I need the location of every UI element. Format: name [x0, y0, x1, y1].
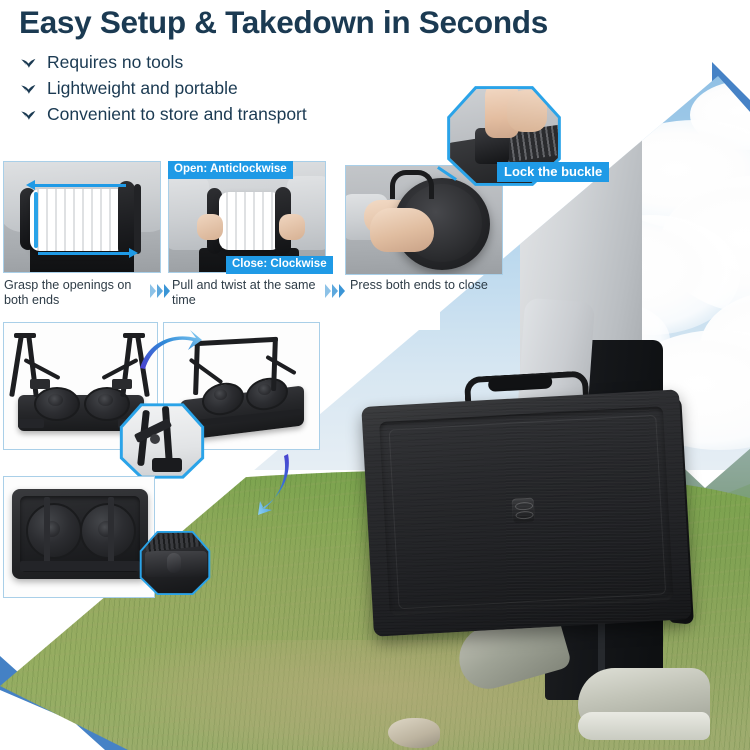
- infographic-canvas: Easy Setup & Takedown in Seconds Require…: [0, 0, 750, 750]
- support-rail: [44, 497, 50, 571]
- pressing-hand: [370, 208, 434, 252]
- frame-brace: [265, 355, 296, 375]
- fold-transition-arrow: [136, 328, 202, 372]
- hand-grip: [197, 214, 223, 240]
- badge-close-clockwise: Close: Clockwise: [226, 256, 333, 274]
- frame-leg: [9, 335, 24, 397]
- frame-crossbar: [14, 333, 36, 338]
- frame-brace: [101, 358, 138, 380]
- case-rim-highlight: [34, 192, 38, 248]
- chevron-right-icon: [339, 284, 345, 298]
- chevron-right-icon: [325, 284, 331, 298]
- fold-transition-arrow-2: [252, 452, 296, 516]
- seat-disc-center: [98, 394, 113, 406]
- latch-strip: [20, 561, 140, 571]
- step-arrow-separator: [325, 284, 345, 298]
- chevron-right-icon: [332, 284, 338, 298]
- list-item: Convenient to store and transport: [20, 104, 440, 127]
- case-end-cap: [118, 181, 135, 257]
- list-item-label: Lightweight and portable: [47, 78, 238, 99]
- step-caption-grasp: Grasp the openings on both ends: [4, 278, 154, 308]
- folded-table-roll: [30, 189, 127, 251]
- check-bird-icon: [20, 55, 39, 75]
- fold-panel-closed-underside: [3, 476, 155, 598]
- folded-table-roll: [219, 192, 281, 250]
- direction-arrow: [38, 252, 130, 255]
- case-shell: [361, 389, 691, 636]
- product-carry-case: [361, 389, 692, 656]
- foot-pad: [18, 419, 44, 428]
- direction-arrow: [34, 184, 126, 187]
- step-caption-press-close: Press both ends to close: [350, 278, 510, 293]
- step-arrow-separator: [150, 284, 170, 298]
- chevron-right-icon: [164, 284, 170, 298]
- feature-bullet-list: Requires no tools Lightweight and portab…: [20, 52, 440, 130]
- step-image-grasp: [3, 161, 161, 273]
- seat-disc-center: [214, 389, 227, 400]
- hand-grip: [279, 214, 305, 240]
- frame-crossbar: [194, 337, 278, 346]
- list-item: Requires no tools: [20, 52, 440, 75]
- latch-knob: [167, 553, 181, 573]
- check-bird-icon: [20, 107, 39, 127]
- ground-stone: [388, 718, 440, 748]
- badge-lock-the-buckle: Lock the buckle: [497, 162, 609, 182]
- seat-disc-center: [258, 384, 271, 395]
- list-item: Lightweight and portable: [20, 78, 440, 101]
- page-title: Easy Setup & Takedown in Seconds: [19, 4, 548, 41]
- frame-foot: [152, 458, 182, 472]
- support-rail: [108, 497, 114, 571]
- hinge-bracket: [112, 379, 132, 389]
- seat-disc-center: [48, 394, 63, 406]
- list-item-label: Requires no tools: [47, 52, 183, 73]
- badge-open-anticlockwise: Open: Anticlockwise: [168, 161, 293, 179]
- case-surface-texture: [361, 389, 691, 636]
- chevron-right-icon: [150, 284, 156, 298]
- step-caption-pull-twist: Pull and twist at the same time: [172, 278, 324, 308]
- case-carry-loop: [390, 170, 434, 199]
- hinge-pin: [150, 434, 160, 444]
- check-bird-icon: [20, 81, 39, 101]
- frame-leg: [134, 184, 141, 254]
- person-shoe-sole: [578, 712, 710, 740]
- hinge-bracket: [30, 379, 50, 389]
- frame-brace: [23, 358, 60, 380]
- list-item-label: Convenient to store and transport: [47, 104, 307, 125]
- chevron-right-icon: [157, 284, 163, 298]
